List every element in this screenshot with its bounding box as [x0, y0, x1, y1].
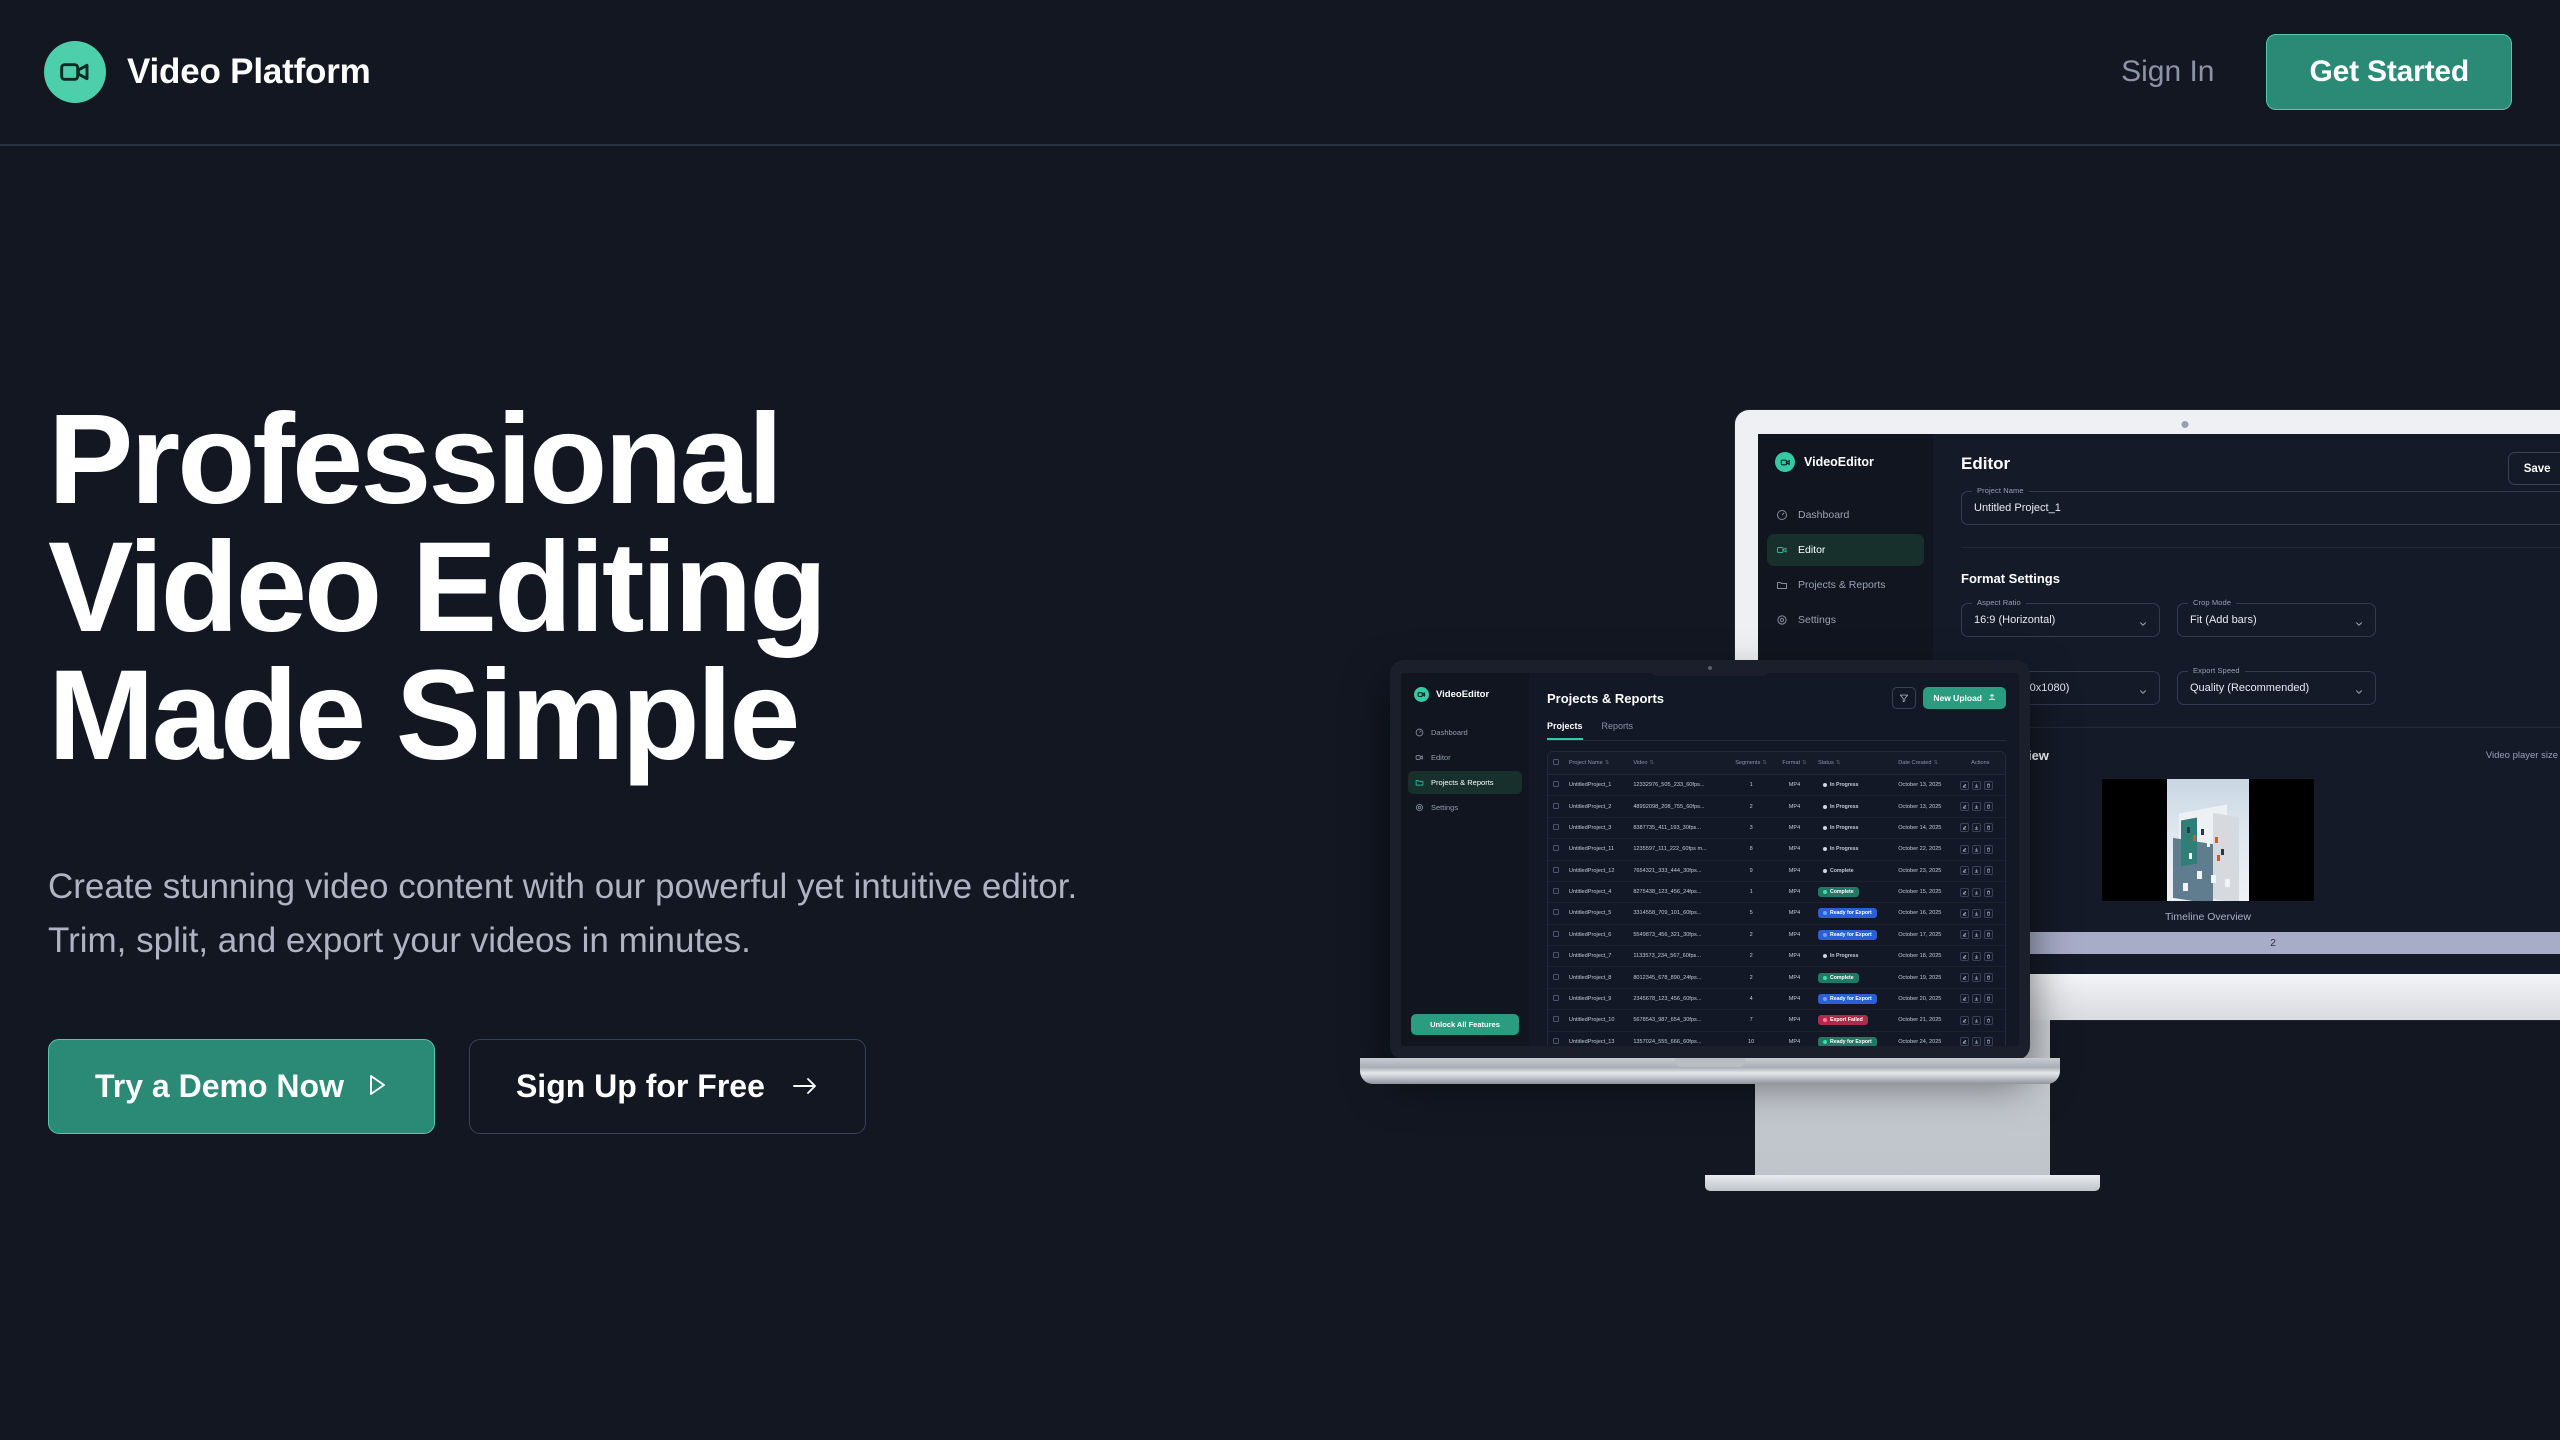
- monitor-stand-base: [1705, 1175, 2100, 1191]
- cell-format: MP4: [1775, 839, 1814, 860]
- sign-in-link[interactable]: Sign In: [2121, 55, 2214, 89]
- cell-segments: 10: [1727, 1031, 1775, 1046]
- cell-project-name: UntitledProject_5: [1565, 903, 1630, 924]
- laptop-base: [1360, 1058, 2060, 1084]
- col-segments[interactable]: Segments⇅: [1727, 752, 1775, 775]
- row-checkbox[interactable]: [1548, 903, 1565, 924]
- table-row[interactable]: UntitledProject_112332976_505_233_60fps.…: [1548, 775, 2005, 796]
- sign-up-label: Sign Up for Free: [516, 1068, 765, 1105]
- cell-project-name: UntitledProject_1: [1565, 775, 1630, 796]
- row-checkbox[interactable]: [1548, 796, 1565, 817]
- cell-status: In Progress: [1814, 775, 1894, 796]
- table-row[interactable]: UntitledProject_48275438_123_456_24fps..…: [1548, 881, 2005, 902]
- cell-actions: [1956, 967, 2005, 988]
- sidebar-label: Projects & Reports: [1431, 778, 1494, 787]
- cell-date-created: October 16, 2025: [1894, 903, 1956, 924]
- brand-logo-group[interactable]: Video Platform: [44, 41, 371, 103]
- project-name-value: Untitled Project_1: [1974, 502, 2061, 514]
- sidebar-item-settings[interactable]: Settings: [1767, 604, 1924, 636]
- chevron-down-icon: [2138, 684, 2148, 702]
- cell-video: 1357024_555_666_60fps...: [1629, 1031, 1727, 1046]
- player-size-control[interactable]: Video player size: [2486, 750, 2560, 761]
- cell-segments: 2: [1727, 967, 1775, 988]
- cell-status: Ready for Export: [1814, 924, 1894, 945]
- cell-format: MP4: [1775, 1031, 1814, 1046]
- cell-actions: [1956, 924, 2005, 945]
- chevron-down-icon: [2354, 684, 2364, 702]
- table-row[interactable]: UntitledProject_53314558_709_101_60fps..…: [1548, 903, 2005, 924]
- cell-segments: 9: [1727, 860, 1775, 881]
- laptop-page-title: Projects & Reports: [1547, 691, 1664, 706]
- status-badge: In Progress: [1818, 823, 1864, 833]
- cell-video: 48992098_208_755_60fps...: [1629, 796, 1727, 817]
- gear-icon: [1776, 614, 1788, 626]
- table-row[interactable]: UntitledProject_88012345_678_890_24fps..…: [1548, 967, 2005, 988]
- sidebar-label: Editor: [1431, 753, 1451, 762]
- crop-mode-value: Fit (Add bars): [2190, 614, 2257, 626]
- edit-icon[interactable]: [1960, 845, 1969, 854]
- status-badge: Complete: [1818, 973, 1859, 983]
- edit-icon[interactable]: [1960, 994, 1969, 1003]
- hero-subtitle: Create stunning video content with our p…: [48, 860, 1118, 969]
- download-icon[interactable]: [1972, 994, 1981, 1003]
- gear-icon: [1415, 803, 1424, 812]
- delete-icon[interactable]: [1984, 823, 1993, 832]
- row-checkbox[interactable]: [1548, 988, 1565, 1009]
- status-badge: Ready for Export: [1818, 1037, 1877, 1046]
- editor-page-title: Editor: [1961, 454, 2010, 474]
- video-camera-icon: [1415, 753, 1424, 762]
- row-checkbox[interactable]: [1548, 946, 1565, 967]
- save-button[interactable]: Save: [2508, 452, 2560, 485]
- hero-section: Professional Video Editing Made Simple C…: [48, 396, 1128, 1134]
- cell-project-name: UntitledProject_8: [1565, 967, 1630, 988]
- cell-segments: 2: [1727, 946, 1775, 967]
- cell-project-name: UntitledProject_4: [1565, 881, 1630, 902]
- video-camera-icon: [44, 41, 106, 103]
- aspect-ratio-value: 16:9 (Horizontal): [1974, 614, 2055, 626]
- download-icon[interactable]: [1972, 781, 1981, 790]
- status-badge: In Progress: [1818, 844, 1864, 854]
- laptop-device: VideoEditor Dashboard Editor: [1360, 660, 2060, 1110]
- play-triangle-icon: [366, 1068, 388, 1105]
- download-icon[interactable]: [1972, 802, 1981, 811]
- delete-icon[interactable]: [1984, 845, 1993, 854]
- status-badge: Ready for Export: [1818, 994, 1877, 1004]
- edit-icon[interactable]: [1960, 823, 1969, 832]
- cell-video: 2345678_123_456_60fps...: [1629, 988, 1727, 1009]
- laptop-screen: VideoEditor Dashboard Editor: [1401, 673, 2019, 1046]
- cell-status: Ready for Export: [1814, 903, 1894, 924]
- cell-format: MP4: [1775, 775, 1814, 796]
- laptop-page-header: Projects & Reports New Upload: [1547, 687, 2006, 709]
- laptop-tabs: Projects Reports: [1547, 721, 2006, 741]
- cell-project-name: UntitledProject_12: [1565, 860, 1630, 881]
- cell-actions: [1956, 1031, 2005, 1046]
- new-upload-label: New Upload: [1933, 693, 1982, 703]
- cell-actions: [1956, 796, 2005, 817]
- cell-actions: [1956, 839, 2005, 860]
- delete-icon[interactable]: [1984, 866, 1993, 875]
- cell-project-name: UntitledProject_3: [1565, 817, 1630, 838]
- cell-video: 7654321_333_444_30fps...: [1629, 860, 1727, 881]
- cell-video: 5678543_987_654_30fps...: [1629, 1010, 1727, 1031]
- col-date-created[interactable]: Date Created⇅: [1894, 752, 1956, 775]
- upload-icon: [1988, 693, 1996, 703]
- delete-icon[interactable]: [1984, 802, 1993, 811]
- cell-date-created: October 20, 2025: [1894, 988, 1956, 1009]
- header-nav-right: Sign In Get Started: [2121, 34, 2512, 110]
- row-checkbox[interactable]: [1548, 860, 1565, 881]
- cell-format: MP4: [1775, 860, 1814, 881]
- cell-segments: 1: [1727, 881, 1775, 902]
- laptop-brand[interactable]: VideoEditor: [1401, 687, 1529, 702]
- delete-icon[interactable]: [1984, 781, 1993, 790]
- row-checkbox[interactable]: [1548, 817, 1565, 838]
- status-badge: In Progress: [1818, 951, 1864, 961]
- try-demo-button[interactable]: Try a Demo Now: [48, 1039, 435, 1134]
- cell-project-name: UntitledProject_6: [1565, 924, 1630, 945]
- sidebar-label: Editor: [1798, 544, 1825, 556]
- cell-video: 3314558_709_101_60fps...: [1629, 903, 1727, 924]
- status-badge: Ready for Export: [1818, 930, 1877, 940]
- aspect-ratio-select[interactable]: Aspect Ratio 16:9 (Horizontal): [1961, 603, 2160, 637]
- cell-date-created: October 18, 2025: [1894, 946, 1956, 967]
- delete-icon[interactable]: [1984, 1016, 1993, 1025]
- delete-icon[interactable]: [1984, 930, 1993, 939]
- cell-status: In Progress: [1814, 946, 1894, 967]
- col-format[interactable]: Format⇅: [1775, 752, 1814, 775]
- editor-brand-name: VideoEditor: [1804, 455, 1874, 469]
- download-icon[interactable]: [1972, 952, 1981, 961]
- video-camera-icon: [1414, 687, 1429, 702]
- col-actions: Actions: [1956, 752, 2005, 775]
- edit-icon[interactable]: [1960, 781, 1969, 790]
- sidebar-label: Dashboard: [1431, 728, 1468, 737]
- folder-icon: [1776, 579, 1788, 591]
- sidebar-item-settings[interactable]: Settings: [1408, 796, 1522, 819]
- sidebar-item-dashboard[interactable]: Dashboard: [1408, 721, 1522, 744]
- unlock-all-features-button[interactable]: Unlock All Features: [1411, 1014, 1519, 1035]
- laptop-main: Projects & Reports New Upload: [1529, 673, 2019, 1046]
- delete-icon[interactable]: [1984, 994, 1993, 1003]
- cell-status: In Progress: [1814, 839, 1894, 860]
- site-header: Video Platform Sign In Get Started: [0, 0, 2560, 146]
- select-all-checkbox[interactable]: [1548, 752, 1565, 775]
- cell-segments: 5: [1727, 903, 1775, 924]
- row-checkbox[interactable]: [1548, 967, 1565, 988]
- editor-nav: Dashboard Editor Projects & Reports: [1758, 499, 1933, 636]
- status-badge: In Progress: [1818, 780, 1864, 790]
- edit-icon[interactable]: [1960, 1016, 1969, 1025]
- table-row[interactable]: UntitledProject_65549873_456_321_30fps..…: [1548, 924, 2005, 945]
- edit-icon[interactable]: [1960, 973, 1969, 982]
- status-badge: Ready for Export: [1818, 908, 1877, 918]
- cell-format: MP4: [1775, 796, 1814, 817]
- tab-reports[interactable]: Reports: [1602, 721, 1634, 740]
- export-speed-label: Export Speed: [2188, 666, 2245, 675]
- sidebar-item-dashboard[interactable]: Dashboard: [1767, 499, 1924, 531]
- cell-segments: 7: [1727, 1010, 1775, 1031]
- cell-segments: 8: [1727, 839, 1775, 860]
- cell-segments: 2: [1727, 796, 1775, 817]
- page-title: Professional Video Editing Made Simple: [48, 396, 1128, 780]
- cell-status: Ready for Export: [1814, 988, 1894, 1009]
- projects-table: Project Name⇅ Video⇅ Segments⇅ Format⇅ S…: [1548, 752, 2005, 1046]
- cell-actions: [1956, 775, 2005, 796]
- cell-status: In Progress: [1814, 796, 1894, 817]
- cell-actions: [1956, 881, 2005, 902]
- cell-segments: 1: [1727, 775, 1775, 796]
- landing-page: Video Platform Sign In Get Started Profe…: [0, 0, 2560, 1440]
- cell-segments: 4: [1727, 988, 1775, 1009]
- cell-actions: [1956, 946, 2005, 967]
- cell-actions: [1956, 860, 2005, 881]
- video-camera-icon: [1776, 544, 1788, 556]
- row-checkbox[interactable]: [1548, 839, 1565, 860]
- cell-status: Complete: [1814, 860, 1894, 881]
- video-camera-icon: [1775, 452, 1795, 472]
- cell-date-created: October 24, 2025: [1894, 1031, 1956, 1046]
- delete-icon[interactable]: [1984, 1037, 1993, 1046]
- table-row[interactable]: UntitledProject_92345678_123_456_60fps..…: [1548, 988, 2005, 1009]
- cell-project-name: UntitledProject_7: [1565, 946, 1630, 967]
- folder-icon: [1415, 778, 1424, 787]
- table-row[interactable]: UntitledProject_38387735_411_193_30fps..…: [1548, 817, 2005, 838]
- cell-format: MP4: [1775, 881, 1814, 902]
- cell-date-created: October 15, 2025: [1894, 881, 1956, 902]
- cell-project-name: UntitledProject_11: [1565, 839, 1630, 860]
- delete-icon[interactable]: [1984, 909, 1993, 918]
- cell-project-name: UntitledProject_9: [1565, 988, 1630, 1009]
- edit-icon[interactable]: [1960, 888, 1969, 897]
- edit-icon[interactable]: [1960, 866, 1969, 875]
- edit-icon[interactable]: [1960, 802, 1969, 811]
- player-size-label: Video player size: [2486, 750, 2558, 761]
- table-row[interactable]: UntitledProject_131357024_555_666_60fps.…: [1548, 1031, 2005, 1046]
- cell-video: 8387735_411_193_30fps...: [1629, 817, 1727, 838]
- video-thumbnail-building: [2167, 779, 2249, 901]
- get-started-button[interactable]: Get Started: [2266, 34, 2512, 110]
- table-row[interactable]: UntitledProject_105678543_987_654_30fps.…: [1548, 1010, 2005, 1031]
- projects-app: VideoEditor Dashboard Editor: [1401, 673, 2019, 1046]
- cell-project-name: UntitledProject_2: [1565, 796, 1630, 817]
- row-checkbox[interactable]: [1548, 1010, 1565, 1031]
- brand-name: Video Platform: [127, 52, 371, 92]
- hero-heading-line-3: Made Simple: [48, 652, 1128, 780]
- cell-date-created: October 21, 2025: [1894, 1010, 1956, 1031]
- cell-date-created: October 17, 2025: [1894, 924, 1956, 945]
- delete-icon[interactable]: [1984, 973, 1993, 982]
- editor-header: Editor: [1961, 454, 2560, 474]
- projects-table-wrapper: Project Name⇅ Video⇅ Segments⇅ Format⇅ S…: [1547, 751, 2006, 1046]
- table-head: Project Name⇅ Video⇅ Segments⇅ Format⇅ S…: [1548, 752, 2005, 775]
- edit-icon[interactable]: [1960, 909, 1969, 918]
- cell-status: Complete: [1814, 967, 1894, 988]
- cell-project-name: UntitledProject_10: [1565, 1010, 1630, 1031]
- download-icon[interactable]: [1972, 888, 1981, 897]
- row-checkbox[interactable]: [1548, 775, 1565, 796]
- sidebar-item-editor[interactable]: Editor: [1408, 746, 1522, 769]
- cell-format: MP4: [1775, 967, 1814, 988]
- hero-cta-group: Try a Demo Now Sign Up for Free: [48, 1039, 1128, 1134]
- sidebar-item-projects-reports[interactable]: Projects & Reports: [1767, 569, 1924, 601]
- chevron-down-icon: [2354, 616, 2364, 634]
- cell-date-created: October 19, 2025: [1894, 967, 1956, 988]
- cell-actions: [1956, 1010, 2005, 1031]
- laptop-camera-notch: [1650, 660, 1770, 676]
- sidebar-label: Settings: [1798, 614, 1836, 626]
- table-header-row: Project Name⇅ Video⇅ Segments⇅ Format⇅ S…: [1548, 752, 2005, 775]
- col-video[interactable]: Video⇅: [1629, 752, 1727, 775]
- cell-segments: 2: [1727, 924, 1775, 945]
- download-icon[interactable]: [1972, 823, 1981, 832]
- cell-video: 1133573_234_567_60fps...: [1629, 946, 1727, 967]
- filter-icon[interactable]: [1892, 687, 1916, 709]
- cell-video: 1235597_111_222_60fps m...: [1629, 839, 1727, 860]
- row-checkbox[interactable]: [1548, 924, 1565, 945]
- save-label: Save: [2524, 463, 2551, 475]
- cell-video: 8012345_678_890_24fps...: [1629, 967, 1727, 988]
- dashboard-icon: [1776, 509, 1788, 521]
- divider: [1961, 547, 2560, 548]
- dashboard-icon: [1415, 728, 1424, 737]
- cell-date-created: October 22, 2025: [1894, 839, 1956, 860]
- cell-format: MP4: [1775, 1010, 1814, 1031]
- download-icon[interactable]: [1972, 845, 1981, 854]
- cell-date-created: October 13, 2025: [1894, 775, 1956, 796]
- sidebar-label: Dashboard: [1798, 509, 1849, 521]
- cell-date-created: October 23, 2025: [1894, 860, 1956, 881]
- status-badge: Complete: [1818, 866, 1859, 876]
- export-speed-value: Quality (Recommended): [2190, 682, 2309, 694]
- cell-video: 12332976_505_233_60fps...: [1629, 775, 1727, 796]
- sidebar-item-editor[interactable]: Editor: [1767, 534, 1924, 566]
- cell-format: MP4: [1775, 817, 1814, 838]
- video-preview-player[interactable]: [2102, 779, 2314, 901]
- cell-status: In Progress: [1814, 817, 1894, 838]
- cell-format: MP4: [1775, 946, 1814, 967]
- download-icon[interactable]: [1972, 1016, 1981, 1025]
- sidebar-label: Settings: [1431, 803, 1458, 812]
- cell-video: 5549873_456_321_30fps...: [1629, 924, 1727, 945]
- sign-up-free-button[interactable]: Sign Up for Free: [469, 1039, 866, 1134]
- download-icon[interactable]: [1972, 1037, 1981, 1046]
- cell-status: Ready for Export: [1814, 1031, 1894, 1046]
- table-row[interactable]: UntitledProject_71133573_234_567_60fps..…: [1548, 946, 2005, 967]
- cell-format: MP4: [1775, 924, 1814, 945]
- status-badge: In Progress: [1818, 802, 1864, 812]
- chevron-down-icon: [2138, 616, 2148, 634]
- cell-actions: [1956, 903, 2005, 924]
- hero-heading-line-1: Professional: [48, 396, 1128, 524]
- arrow-right-icon: [791, 1068, 819, 1105]
- cell-status: Complete: [1814, 881, 1894, 902]
- sidebar-label: Projects & Reports: [1798, 579, 1886, 591]
- table-row[interactable]: UntitledProject_248992098_208_755_60fps.…: [1548, 796, 2005, 817]
- export-speed-select[interactable]: Export Speed Quality (Recommended): [2177, 671, 2376, 705]
- new-upload-button[interactable]: New Upload: [1923, 687, 2006, 709]
- edit-icon[interactable]: [1960, 1037, 1969, 1046]
- laptop-sidebar: VideoEditor Dashboard Editor: [1401, 673, 1529, 1046]
- row-checkbox[interactable]: [1548, 1031, 1565, 1046]
- cell-segments: 3: [1727, 817, 1775, 838]
- download-icon[interactable]: [1972, 866, 1981, 875]
- cell-project-name: UntitledProject_13: [1565, 1031, 1630, 1046]
- cell-video: 8275438_123_456_24fps...: [1629, 881, 1727, 902]
- delete-icon[interactable]: [1984, 952, 1993, 961]
- laptop-brand-name: VideoEditor: [1436, 689, 1489, 700]
- row-checkbox[interactable]: [1548, 881, 1565, 902]
- sidebar-item-projects-reports[interactable]: Projects & Reports: [1408, 771, 1522, 794]
- monitor-camera-icon: [2182, 421, 2189, 428]
- edit-icon[interactable]: [1960, 952, 1969, 961]
- download-icon[interactable]: [1972, 930, 1981, 939]
- product-mockup: VideoEditor Dashboard Editor: [1360, 380, 2560, 1210]
- crop-mode-label: Crop Mode: [2188, 598, 2236, 607]
- hero-heading-line-2: Video Editing: [48, 524, 1128, 652]
- table-body: UntitledProject_112332976_505_233_60fps.…: [1548, 775, 2005, 1047]
- cell-status: Export Failed: [1814, 1010, 1894, 1031]
- download-icon[interactable]: [1972, 973, 1981, 982]
- table-row[interactable]: UntitledProject_127654321_333_444_30fps.…: [1548, 860, 2005, 881]
- cell-actions: [1956, 988, 2005, 1009]
- laptop-header-actions: New Upload: [1892, 687, 2006, 709]
- col-status[interactable]: Status⇅: [1814, 752, 1894, 775]
- cell-date-created: October 13, 2025: [1894, 796, 1956, 817]
- cell-date-created: October 14, 2025: [1894, 817, 1956, 838]
- project-name-label: Project Name: [1972, 486, 2029, 495]
- table-row[interactable]: UntitledProject_111235597_111_222_60fps …: [1548, 839, 2005, 860]
- cell-actions: [1956, 817, 2005, 838]
- laptop-lid: VideoEditor Dashboard Editor: [1390, 660, 2030, 1060]
- crop-mode-select[interactable]: Crop Mode Fit (Add bars): [2177, 603, 2376, 637]
- delete-icon[interactable]: [1984, 888, 1993, 897]
- cell-format: MP4: [1775, 903, 1814, 924]
- cell-format: MP4: [1775, 988, 1814, 1009]
- tab-projects[interactable]: Projects: [1547, 721, 1583, 740]
- status-badge: Complete: [1818, 887, 1859, 897]
- status-badge: Export Failed: [1818, 1015, 1868, 1025]
- try-demo-label: Try a Demo Now: [95, 1068, 344, 1105]
- col-project-name[interactable]: Project Name⇅: [1565, 752, 1630, 775]
- project-name-field[interactable]: Project Name Untitled Project_1: [1961, 491, 2560, 525]
- aspect-ratio-label: Aspect Ratio: [1972, 598, 2026, 607]
- editor-brand[interactable]: VideoEditor: [1758, 452, 1933, 472]
- download-icon[interactable]: [1972, 909, 1981, 918]
- format-settings-title: Format Settings: [1961, 571, 2560, 586]
- editor-header-actions: Save Export: [2508, 452, 2560, 485]
- edit-icon[interactable]: [1960, 930, 1969, 939]
- laptop-nav: Dashboard Editor Projects & Reports: [1401, 721, 1529, 819]
